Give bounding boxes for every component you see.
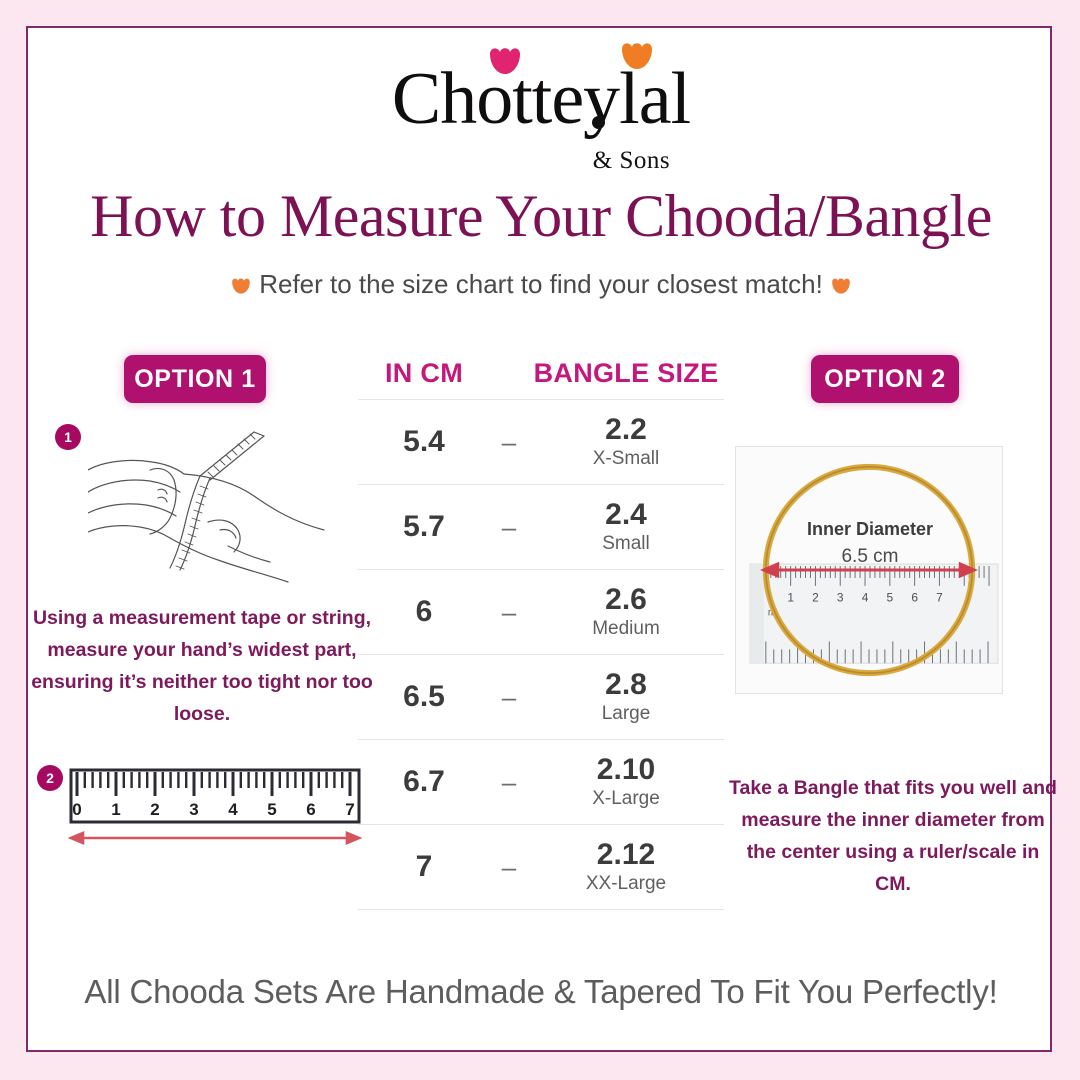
svg-text:0: 0 bbox=[72, 800, 81, 819]
cell-separator: – bbox=[490, 682, 528, 713]
svg-text:4: 4 bbox=[862, 591, 869, 605]
svg-text:1: 1 bbox=[787, 591, 794, 605]
inner-diameter-label: Inner Diameter bbox=[736, 519, 1003, 540]
table-row: 6 – 2.6 Medium bbox=[358, 569, 724, 654]
svg-text:4: 4 bbox=[228, 800, 238, 819]
footer-note: All Chooda Sets Are Handmade & Tapered T… bbox=[28, 973, 1054, 1011]
cell-size-number: 2.12 bbox=[528, 838, 724, 872]
cell-separator: – bbox=[490, 767, 528, 798]
cell-separator: – bbox=[490, 512, 528, 543]
svg-text:1: 1 bbox=[111, 800, 120, 819]
cell-size-name: Small bbox=[528, 532, 724, 556]
cell-separator: – bbox=[490, 427, 528, 458]
cell-size: 2.12 XX-Large bbox=[528, 838, 724, 896]
column-header-cm: IN CM bbox=[358, 358, 490, 389]
hand-measuring-illustration bbox=[88, 418, 358, 598]
poster-card: Chotteylal & Sons How to Measure Your Ch… bbox=[26, 26, 1052, 1052]
svg-text:6: 6 bbox=[911, 591, 918, 605]
table-row: 7 – 2.12 XX-Large bbox=[358, 824, 724, 910]
cell-size-number: 2.8 bbox=[528, 668, 724, 702]
cell-cm: 7 bbox=[358, 850, 490, 884]
cell-cm: 6 bbox=[358, 595, 490, 629]
cell-size-number: 2.2 bbox=[528, 413, 724, 447]
table-row: 5.4 – 2.2 X-Small bbox=[358, 399, 724, 484]
cell-size-name: X-Large bbox=[528, 787, 724, 811]
cell-cm: 5.4 bbox=[358, 425, 490, 459]
brand-logo: Chotteylal & Sons bbox=[28, 62, 1054, 182]
option-2-badge: OPTION 2 bbox=[811, 355, 959, 403]
ruler-illustration: 012 345 67 bbox=[53, 766, 373, 856]
inner-diameter-value: 6.5 cm bbox=[736, 546, 1003, 568]
page-title: How to Measure Your Chooda/Bangle bbox=[28, 183, 1054, 249]
table-row: 6.7 – 2.10 X-Large bbox=[358, 739, 724, 824]
tulip-icon-right bbox=[831, 276, 851, 296]
cell-size-number: 2.4 bbox=[528, 498, 724, 532]
cell-size: 2.2 X-Small bbox=[528, 413, 724, 471]
cell-size: 2.4 Small bbox=[528, 498, 724, 556]
cell-cm: 6.7 bbox=[358, 765, 490, 799]
poster-background: Chotteylal & Sons How to Measure Your Ch… bbox=[0, 0, 1080, 1080]
cell-size-name: X-Small bbox=[528, 447, 724, 471]
cell-size: 2.8 Large bbox=[528, 668, 724, 726]
svg-text:5: 5 bbox=[267, 800, 276, 819]
column-header-bangle-size: BANGLE SIZE bbox=[528, 358, 724, 389]
cell-cm: 5.7 bbox=[358, 510, 490, 544]
cell-size-number: 2.6 bbox=[528, 583, 724, 617]
svg-text:2: 2 bbox=[812, 591, 819, 605]
option-1-step-1-text: Using a measurement tape or string, meas… bbox=[28, 602, 376, 730]
svg-text:3: 3 bbox=[189, 800, 198, 819]
tulip-icon-left bbox=[231, 276, 251, 296]
page-subtitle-text: Refer to the size chart to find your clo… bbox=[259, 269, 823, 299]
option-2-text: Take a Bangle that fits you well and mea… bbox=[728, 772, 1058, 900]
cell-size-name: Large bbox=[528, 702, 724, 726]
tulip-icon-orange bbox=[620, 41, 654, 71]
cell-size-name: Medium bbox=[528, 617, 724, 641]
option-1-badge: OPTION 1 bbox=[124, 355, 266, 403]
step-1-number: 1 bbox=[55, 424, 81, 450]
svg-text:5: 5 bbox=[887, 591, 894, 605]
brand-name-wordmark: Chotteylal & Sons bbox=[392, 62, 690, 136]
table-row: 6.5 – 2.8 Large bbox=[358, 654, 724, 739]
page-subtitle: Refer to the size chart to find your clo… bbox=[28, 268, 1054, 300]
cell-size-number: 2.10 bbox=[528, 753, 724, 787]
svg-text:3: 3 bbox=[837, 591, 844, 605]
table-row: 5.7 – 2.4 Small bbox=[358, 484, 724, 569]
cell-separator: – bbox=[490, 597, 528, 628]
svg-text:7: 7 bbox=[345, 800, 354, 819]
table-header-row: IN CM BANGLE SIZE bbox=[358, 358, 724, 399]
cell-cm: 6.5 bbox=[358, 680, 490, 714]
svg-text:6: 6 bbox=[306, 800, 315, 819]
tulip-icon-pink bbox=[488, 46, 522, 76]
size-chart-table: IN CM BANGLE SIZE 5.4 – 2.2 X-Small 5.7 … bbox=[358, 358, 724, 910]
bangle-ruler-photo: 123 456 7 m bbox=[735, 446, 1003, 694]
cell-separator: – bbox=[490, 852, 528, 883]
svg-text:2: 2 bbox=[150, 800, 159, 819]
cell-size: 2.10 X-Large bbox=[528, 753, 724, 811]
cell-size-name: XX-Large bbox=[528, 872, 724, 896]
svg-text:7: 7 bbox=[936, 591, 943, 605]
cell-size: 2.6 Medium bbox=[528, 583, 724, 641]
